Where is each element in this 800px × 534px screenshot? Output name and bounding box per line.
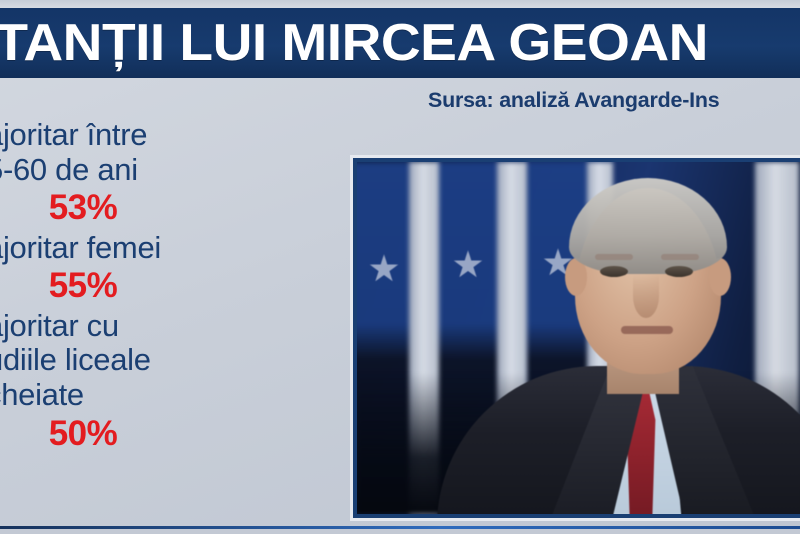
mouth	[621, 326, 673, 334]
stat-value: 50%	[0, 413, 312, 454]
headline-banner: OTANȚII LUI MIRCEA GEOAN	[0, 8, 800, 78]
stat-label: ajoritar cu udiile liceale cheiate	[0, 309, 312, 413]
stat-item: ajoritar femei 55%	[0, 231, 312, 307]
stat-label: ajoritar femei	[0, 231, 312, 266]
page-title: OTANȚII LUI MIRCEA GEOAN	[0, 17, 708, 69]
eyebrow-right	[661, 254, 699, 260]
eyebrow-left	[595, 254, 633, 260]
portrait-subject	[455, 170, 800, 514]
bottom-fill	[0, 529, 800, 534]
eye-right	[665, 266, 693, 277]
stat-item: ajoritar cu udiile liceale cheiate 50%	[0, 309, 312, 454]
portrait-photo	[357, 162, 800, 514]
statistics-list: ajoritar între 5-60 de ani 53% ajoritar …	[0, 118, 312, 456]
nose	[633, 274, 659, 318]
hair	[569, 178, 727, 274]
stat-value: 55%	[0, 265, 312, 306]
infographic-root: OTANȚII LUI MIRCEA GEOAN Sursa: analiză …	[0, 0, 800, 534]
top-strip	[0, 0, 800, 8]
stat-label: ajoritar între 5-60 de ani	[0, 118, 312, 187]
eye-left	[600, 266, 628, 277]
stat-value: 53%	[0, 187, 312, 228]
stat-item: ajoritar între 5-60 de ani 53%	[0, 118, 312, 229]
source-attribution: Sursa: analiză Avangarde-Ins	[428, 89, 719, 113]
portrait-photo-frame	[353, 158, 800, 518]
